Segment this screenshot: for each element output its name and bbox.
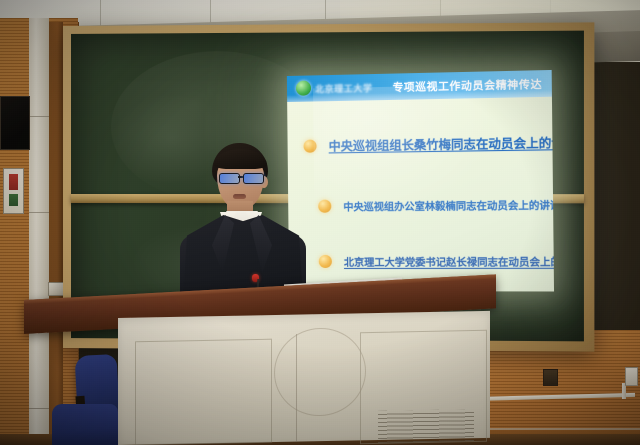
- wall-sign-red-mark: [9, 174, 18, 190]
- lectern-vent-grille: [378, 409, 474, 443]
- photograph-lecture-hall: 北京理工大学 专项巡视工作动员会精神传达 中央巡视组组长桑竹梅同志在动员会上的讲…: [0, 0, 640, 445]
- bullet-marker-icon: [319, 255, 332, 268]
- projected-slide: 北京理工大学 专项巡视工作动员会精神传达 中央巡视组组长桑竹梅同志在动员会上的讲…: [287, 70, 554, 292]
- door-jamb: [49, 22, 63, 445]
- slide-bullet-3: 北京理工大学党委书记赵长禄同志在动员会上的讲话: [319, 253, 546, 269]
- glasses-lens-left: [219, 173, 240, 184]
- wall-sign: [3, 168, 24, 214]
- wall-speaker-box: [0, 96, 30, 150]
- slide-logo-text: 北京理工大学: [315, 81, 373, 95]
- slide-bullet-3-text: 北京理工大学党委书记赵长禄同志在动员会上的讲话: [344, 253, 554, 269]
- slide-title: 专项巡视工作动员会精神传达: [392, 76, 542, 95]
- mouth: [233, 194, 246, 199]
- slide-bullet-2-text: 中央巡视组办公室林毅楠同志在动员会上的讲话: [343, 197, 554, 214]
- lectern-panel-left: [135, 339, 272, 445]
- university-logo-icon: [296, 80, 311, 95]
- slide-bullet-2: 中央巡视组办公室林毅楠同志在动员会上的讲话: [318, 197, 545, 214]
- eyeglasses-icon: [218, 173, 264, 182]
- bullet-marker-icon: [318, 200, 331, 213]
- slide-bullet-1-text: 中央巡视组组长桑竹梅同志在动员会上的讲话: [329, 133, 554, 154]
- blue-chair-seat: [52, 404, 118, 445]
- wall-sign-green-mark: [9, 194, 18, 206]
- wall-pilaster: [29, 18, 49, 445]
- slide-bullet-1: 中央巡视组组长桑竹梅同志在动员会上的讲话: [303, 134, 544, 155]
- wall-outlet-box: [543, 369, 558, 386]
- glasses-lens-right: [243, 173, 264, 184]
- slide-body: 中央巡视组组长桑竹梅同志在动员会上的讲话 中央巡视组办公室林毅楠同志在动员会上的…: [287, 97, 554, 292]
- wall-switch-plate[interactable]: [625, 367, 638, 386]
